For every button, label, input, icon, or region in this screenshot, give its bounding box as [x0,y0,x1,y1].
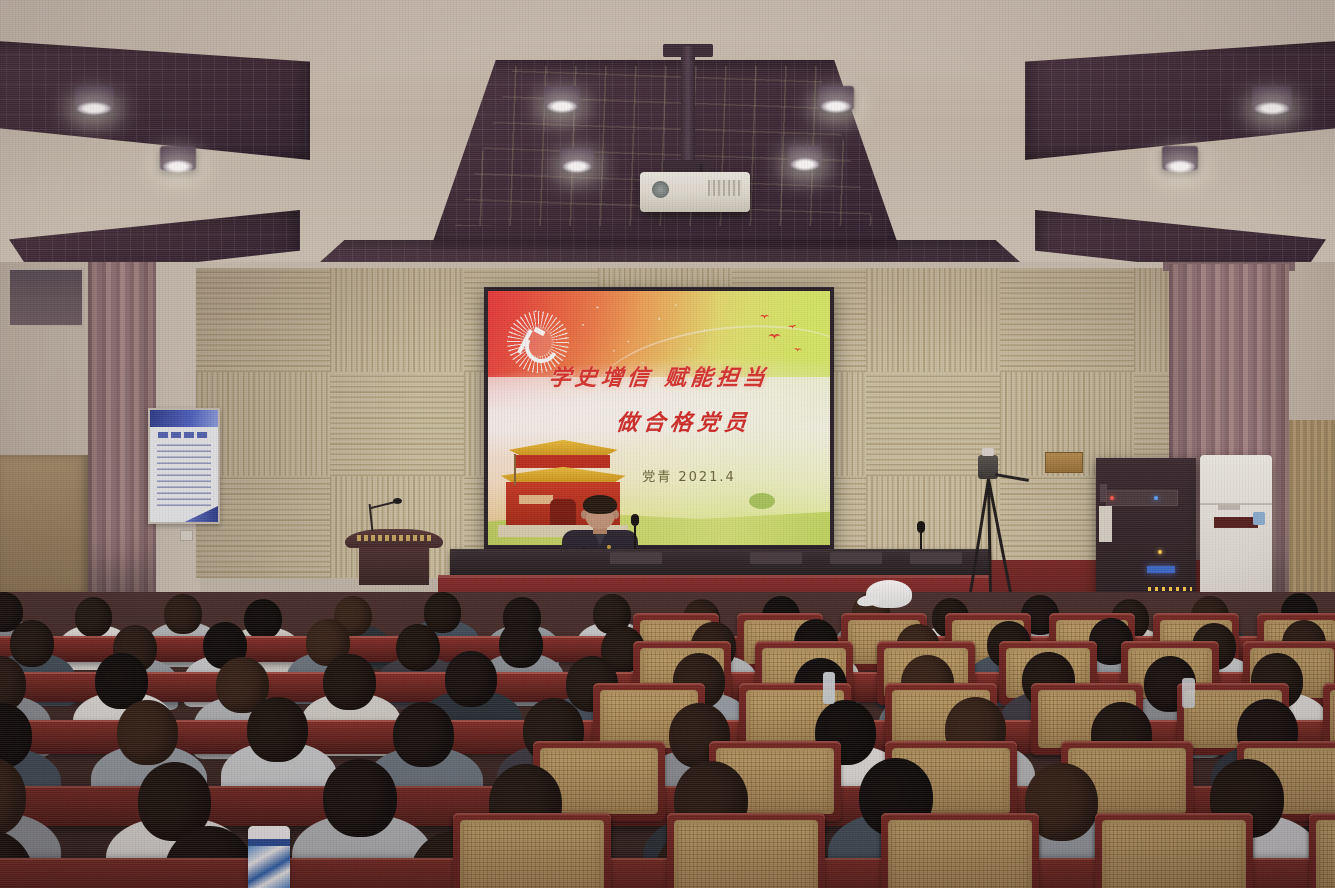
auditorium-chair-seat-back[interactable] [1102,820,1246,888]
water-bottle [823,672,835,704]
slide-subtitle: 党青 2021.4 [488,466,830,485]
acoustic-tile [330,268,464,372]
bird-icon [787,324,797,330]
projector-lens-icon [652,181,669,198]
audience-member-head [117,700,178,765]
desk-microphone-stem [634,522,636,552]
podium-body [359,547,429,585]
audience-member-head [445,651,498,707]
projector-vent [708,180,742,196]
podium-microphone-icon [393,498,402,504]
acoustic-tile [330,372,464,476]
downlight-icon [544,86,580,110]
podium-top [345,529,443,548]
projection-screen: 学史增信 赋能担当 做合格党员 党青 2021.4 [484,287,834,549]
poster-body-text [157,444,211,506]
auditorium-chair-seat-back[interactable] [674,820,818,888]
auditorium-photo: 学史增信 赋能担当 做合格党员 党青 2021.4 [0,0,1335,888]
projector-mount-pole [681,46,695,164]
water-bottle [1182,678,1195,708]
wall-outlet [180,530,193,541]
ac-display-panel [1214,517,1258,528]
slide-headline-line2: 做合格党员 [488,405,830,437]
slide-headline-line1: 学史增信 赋能担当 [488,360,830,392]
acoustic-tile [1000,268,1134,372]
acoustic-tile [196,268,330,372]
blue-white-thermos-cup [248,826,290,888]
rack-indicator-led [1158,550,1162,554]
desk-microphone-icon [917,521,925,533]
tiananmen-banner [519,495,553,504]
poster-footer-band [177,506,218,522]
acoustic-tile [866,268,1000,372]
audience-member-head [247,697,308,762]
rack-led-array [1148,587,1192,591]
table-panel [910,552,962,564]
rack-status-led [1154,496,1158,500]
thermos-lid [248,826,290,839]
rack-front-panel [1106,490,1178,506]
rack-display-strip [1147,566,1175,573]
ac-brand-logo [1218,505,1240,510]
framed-wall-notice [148,408,220,524]
table-panel [830,552,882,564]
rack-label-tag [1099,506,1112,542]
downlight-icon [1252,86,1292,112]
slide-content: 学史增信 赋能担当 做合格党员 党青 2021.4 [488,291,830,545]
ceiling [0,0,1335,272]
auditorium-chair-seat-back[interactable] [1316,820,1335,888]
auditorium-chair-seat-back[interactable] [888,820,1032,888]
ac-badge-icon [1253,512,1265,525]
camera-top-plate [982,448,994,456]
bird-icon [768,334,782,341]
rack-power-led [1110,496,1114,500]
bird-icon [759,315,769,321]
poster-title-line [158,432,210,438]
left-upper-window [8,268,84,327]
presenter-ear [613,510,619,519]
thermos-pattern [248,846,290,888]
downlight-icon [74,86,114,112]
downlight-icon [818,86,854,110]
poster-header-band [150,410,218,427]
presenter-hair [583,495,617,514]
bird-icon [793,348,802,353]
ceiling-coffer-left [0,40,310,160]
auditorium-chair-seat-back[interactable] [460,820,604,888]
downlight-icon [160,146,196,170]
left-curtain [88,262,156,595]
downlight-icon [788,146,822,168]
downlight-icon [560,148,594,170]
thermos-band [248,839,290,846]
desk-microphone-icon [631,514,639,526]
left-wainscot [0,455,88,595]
speaker-podium [345,529,443,585]
downlight-icon [1162,146,1198,170]
wall-plaque [1045,452,1083,473]
audience-member-head [393,702,454,767]
table-panel [610,552,662,564]
podium-gold-lettering [357,535,431,541]
ceiling-projector [640,172,750,212]
table-panel [750,552,802,564]
white-baseball-cap [866,580,912,608]
tiananmen-upper-roof [509,440,618,456]
